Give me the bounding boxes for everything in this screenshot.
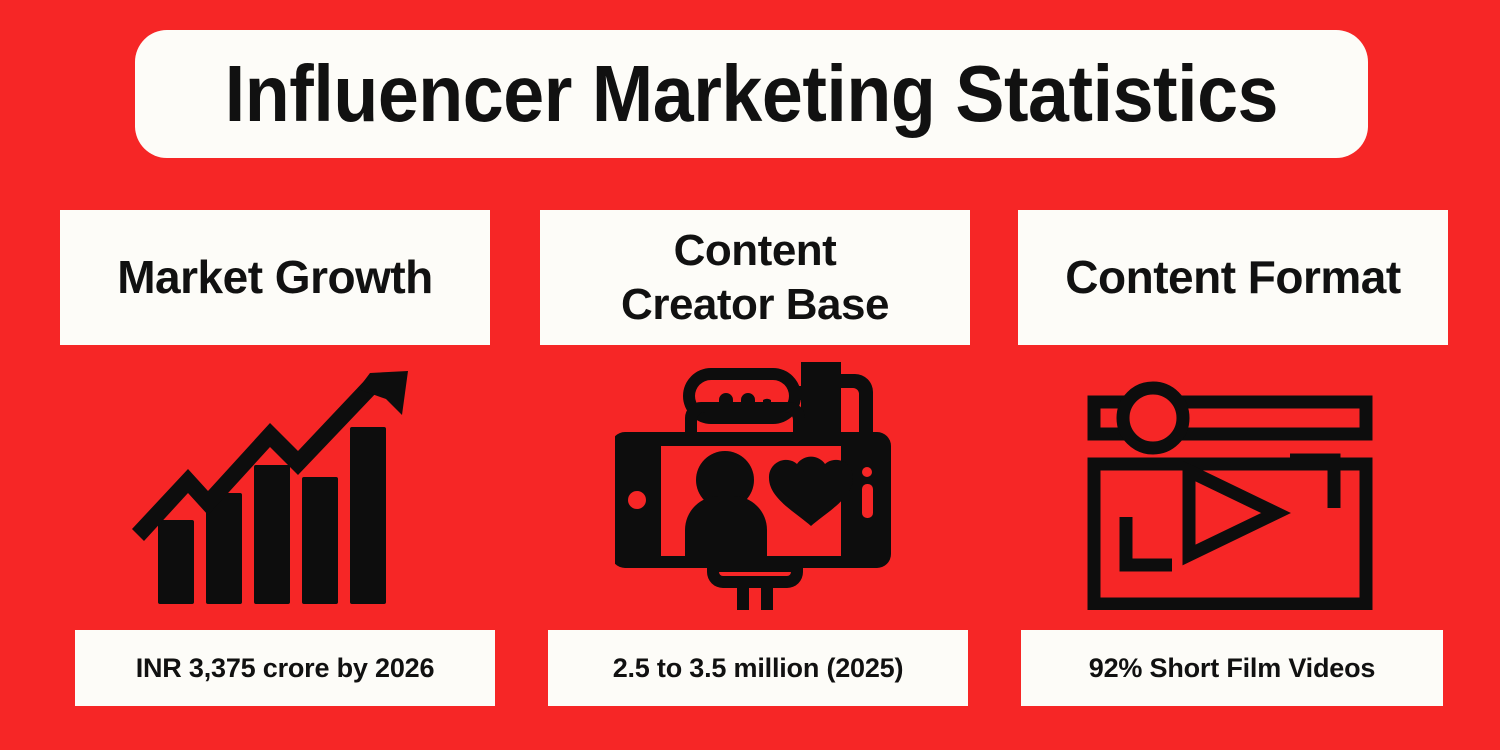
phone-speaker [862,484,873,518]
stat-column-content-format: Content Format [1018,205,1448,720]
column-heading-content-format: Content Format [1065,249,1400,305]
phone-home-button [628,491,646,509]
video-player-play-icon [1086,365,1381,610]
icon-zone-content-format [1018,350,1448,625]
page-title: Influencer Marketing Statistics [225,54,1278,134]
column-caption-card-market-growth: INR 3,375 crore by 2026 [75,630,495,706]
stat-column-market-growth: Market Growth INR 3,375 crore [60,205,490,720]
progress-bar-knob [1123,388,1183,448]
infographic-canvas: Influencer Marketing Statistics Market G… [0,0,1500,750]
column-caption-content-format: 92% Short Film Videos [1089,653,1375,684]
stat-column-creator-base: Content Creator Base [540,205,970,720]
column-caption-card-content-format: 92% Short Film Videos [1021,630,1443,706]
column-heading-card-content-format: Content Format [1018,210,1448,345]
smartphone-creator-setup-icon [615,360,895,615]
icon-zone-creator-base [540,350,970,625]
column-heading-card-market-growth: Market Growth [60,210,490,345]
column-heading-creator-base: Content Creator Base [621,224,889,331]
corner-bracket-bottom-left [1126,517,1172,565]
play-triangle [1189,471,1276,555]
icon-zone-market-growth [60,350,490,625]
column-caption-market-growth: INR 3,375 crore by 2026 [136,653,435,684]
title-banner: Influencer Marketing Statistics [135,30,1368,158]
column-caption-creator-base: 2.5 to 3.5 million (2025) [613,653,904,684]
phone-camera-dot [862,467,872,477]
column-heading-card-creator-base: Content Creator Base [540,210,970,345]
growth-bar-chart-arrow-icon [130,365,420,610]
column-caption-card-creator-base: 2.5 to 3.5 million (2025) [548,630,968,706]
column-heading-market-growth: Market Growth [117,249,433,305]
